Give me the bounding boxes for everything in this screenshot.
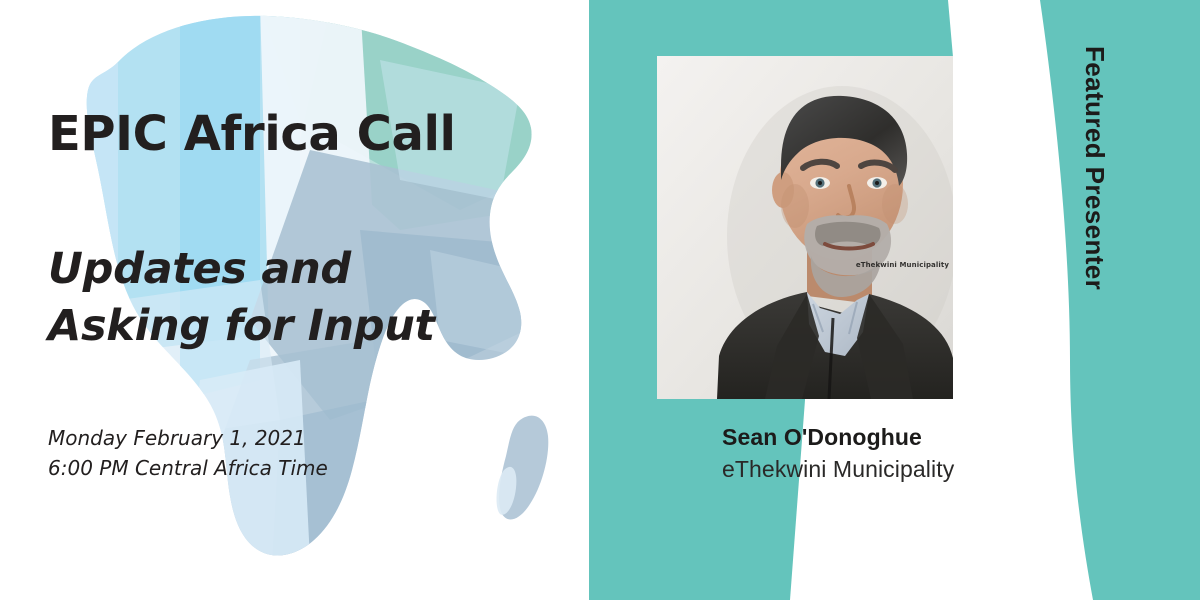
event-date: Monday February 1, 2021 [48, 423, 328, 453]
photo-watermark: eThekwini Municipality [856, 261, 949, 269]
presenter-organization: eThekwini Municipality [722, 456, 1122, 483]
left-panel: EPIC Africa Call Updates and Asking for … [0, 0, 589, 600]
event-subtitle-line-2: Asking for Input [48, 298, 435, 355]
teal-top-notch [657, 0, 953, 57]
presenter-caption: Sean O'Donoghue eThekwini Municipality [722, 424, 1122, 483]
event-time: 6:00 PM Central Africa Time [48, 453, 328, 483]
poster-canvas: EPIC Africa Call Updates and Asking for … [0, 0, 1200, 600]
event-datetime: Monday February 1, 2021 6:00 PM Central … [48, 423, 328, 484]
presenter-photo: eThekwini Municipality [657, 56, 953, 399]
featured-presenter-label: Featured Presenter [1079, 46, 1110, 290]
left-copy-block: EPIC Africa Call Updates and Asking for … [48, 0, 568, 600]
event-title: EPIC Africa Call [48, 106, 456, 162]
event-subtitle-line-1: Updates and [48, 241, 435, 298]
presenter-portrait-illustration [657, 56, 953, 399]
event-subtitle: Updates and Asking for Input [48, 241, 435, 355]
teal-right-ribbon [1040, 0, 1200, 600]
presenter-name: Sean O'Donoghue [722, 424, 1122, 451]
